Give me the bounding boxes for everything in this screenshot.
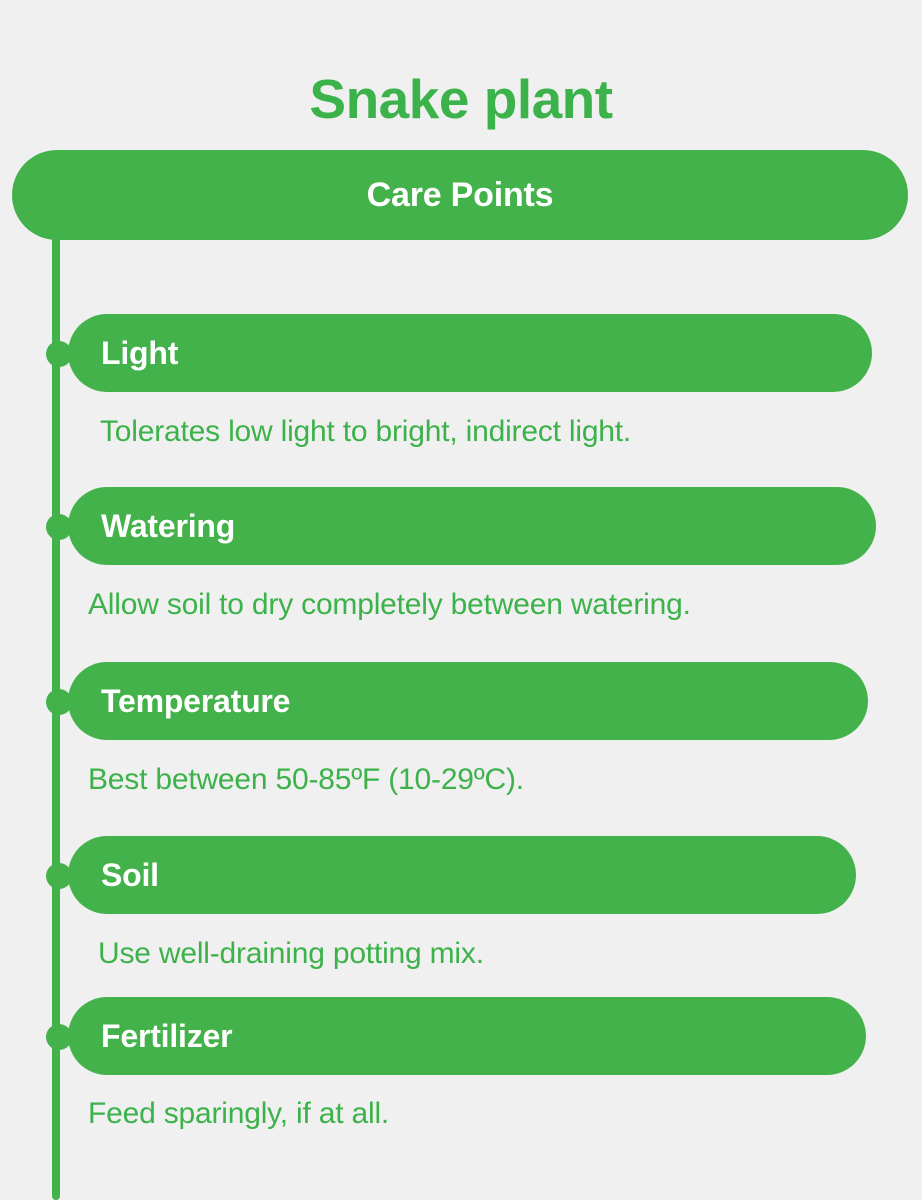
care-description-light: Tolerates low light to bright, indirect … — [100, 415, 631, 449]
care-points-header-banner: Care Points — [12, 150, 908, 240]
care-pill-watering[interactable]: Watering — [68, 487, 876, 565]
care-description-soil: Use well-draining potting mix. — [98, 937, 484, 971]
care-pill-label-light: Light — [101, 335, 178, 372]
care-pill-temperature[interactable]: Temperature — [68, 662, 868, 740]
care-pill-label-watering: Watering — [101, 508, 235, 545]
page-title: Snake plant — [0, 69, 922, 130]
care-pill-label-soil: Soil — [101, 857, 159, 894]
care-pill-label-temperature: Temperature — [101, 683, 290, 720]
care-pill-light[interactable]: Light — [68, 314, 872, 392]
care-pill-soil[interactable]: Soil — [68, 836, 856, 914]
care-description-fertilizer: Feed sparingly, if at all. — [88, 1097, 389, 1131]
care-description-watering: Allow soil to dry completely between wat… — [88, 588, 691, 622]
care-pill-label-fertilizer: Fertilizer — [101, 1018, 232, 1055]
care-pill-fertilizer[interactable]: Fertilizer — [68, 997, 866, 1075]
care-points-infographic: Snake plant Care Points Light Tolerates … — [0, 0, 922, 1200]
care-points-header-label: Care Points — [367, 176, 554, 215]
care-description-temperature: Best between 50-85ºF (10-29ºC). — [88, 763, 524, 797]
